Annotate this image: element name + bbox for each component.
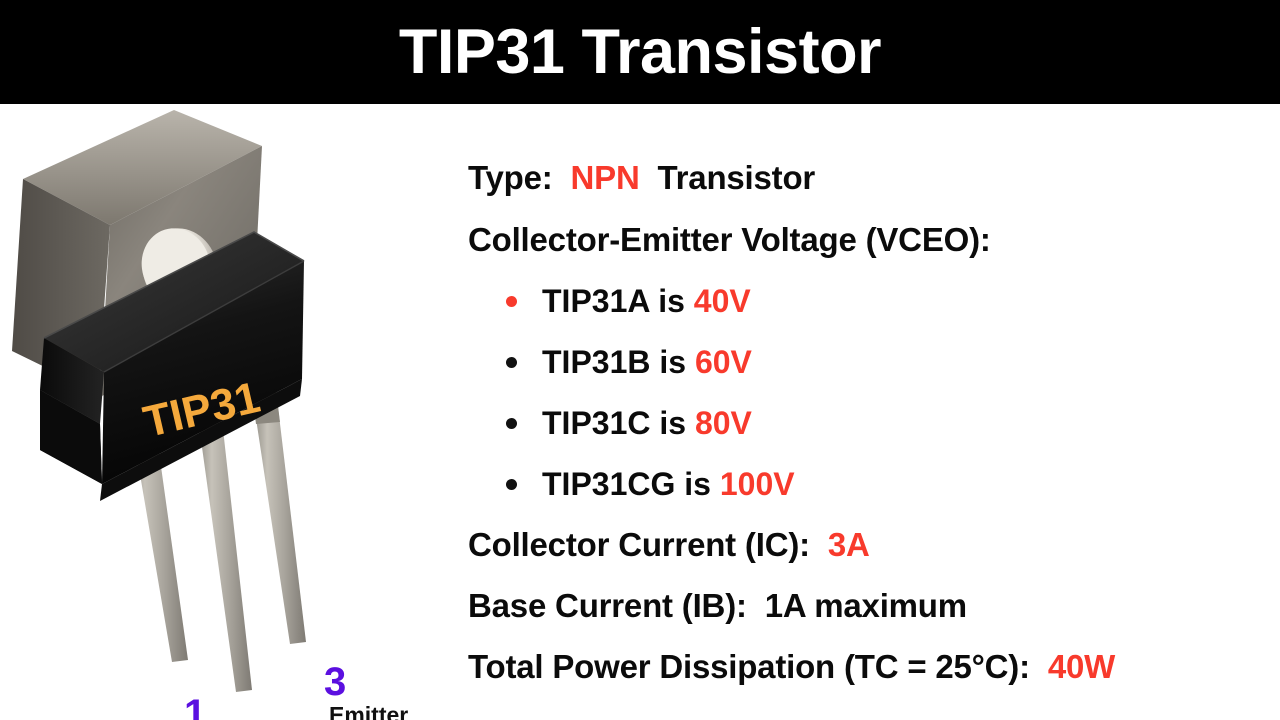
bullet-dot-icon [506,296,517,307]
list-item: TIP31CG is 100V [468,468,795,500]
spec-pd-label: Total Power Dissipation (TC = 25°C): [468,648,1030,685]
pin-3-label: Emitter [329,704,408,720]
vceo-item-name: TIP31A is [542,285,685,317]
page-header: TIP31 Transistor [0,0,1280,104]
vceo-item-name: TIP31CG is [542,468,711,500]
vceo-item-name: TIP31B is [542,346,686,378]
transistor-illustration-panel: TIP31 1 Base 2 Collector 3 Emitter [0,104,460,720]
spec-ib-value: 1A maximum [765,587,967,624]
bullet-dot-icon [506,479,517,490]
vceo-item-name: TIP31C is [542,407,686,439]
pin-1-number: 1 [184,694,206,720]
pin-3-number: 3 [324,662,346,702]
list-item: TIP31C is 80V [468,407,752,439]
spec-collector-current-line: Collector Current (IC): 3A [468,528,870,561]
spec-type-line: Type: NPN Transistor [468,161,815,194]
spec-type-suffix: Transistor [658,159,816,196]
spec-type-value: NPN [571,159,640,196]
spec-pd-value: 40W [1048,648,1115,685]
list-item: TIP31A is 40V [468,285,751,317]
vceo-item-value: 80V [695,407,752,439]
list-item: TIP31B is 60V [468,346,752,378]
lead-3-emitter [252,390,306,644]
spec-type-label: Type: [468,159,553,196]
spec-ib-label: Base Current (IB): [468,587,747,624]
spec-base-current-line: Base Current (IB): 1A maximum [468,589,967,622]
spec-ic-label: Collector Current (IC): [468,526,810,563]
page-title: TIP31 Transistor [399,21,881,84]
spec-ic-value: 3A [828,526,870,563]
specifications-panel: Type: NPN Transistor Collector-Emitter V… [462,104,1280,720]
vceo-item-value: 40V [694,285,751,317]
bullet-dot-icon [506,357,517,368]
vceo-item-value: 100V [720,468,795,500]
bullet-dot-icon [506,418,517,429]
vceo-item-value: 60V [695,346,752,378]
spec-power-dissipation-line: Total Power Dissipation (TC = 25°C): 40W [468,650,1115,683]
transistor-to220-image: TIP31 [0,104,460,720]
spec-vceo-heading: Collector-Emitter Voltage (VCEO): [468,223,991,256]
